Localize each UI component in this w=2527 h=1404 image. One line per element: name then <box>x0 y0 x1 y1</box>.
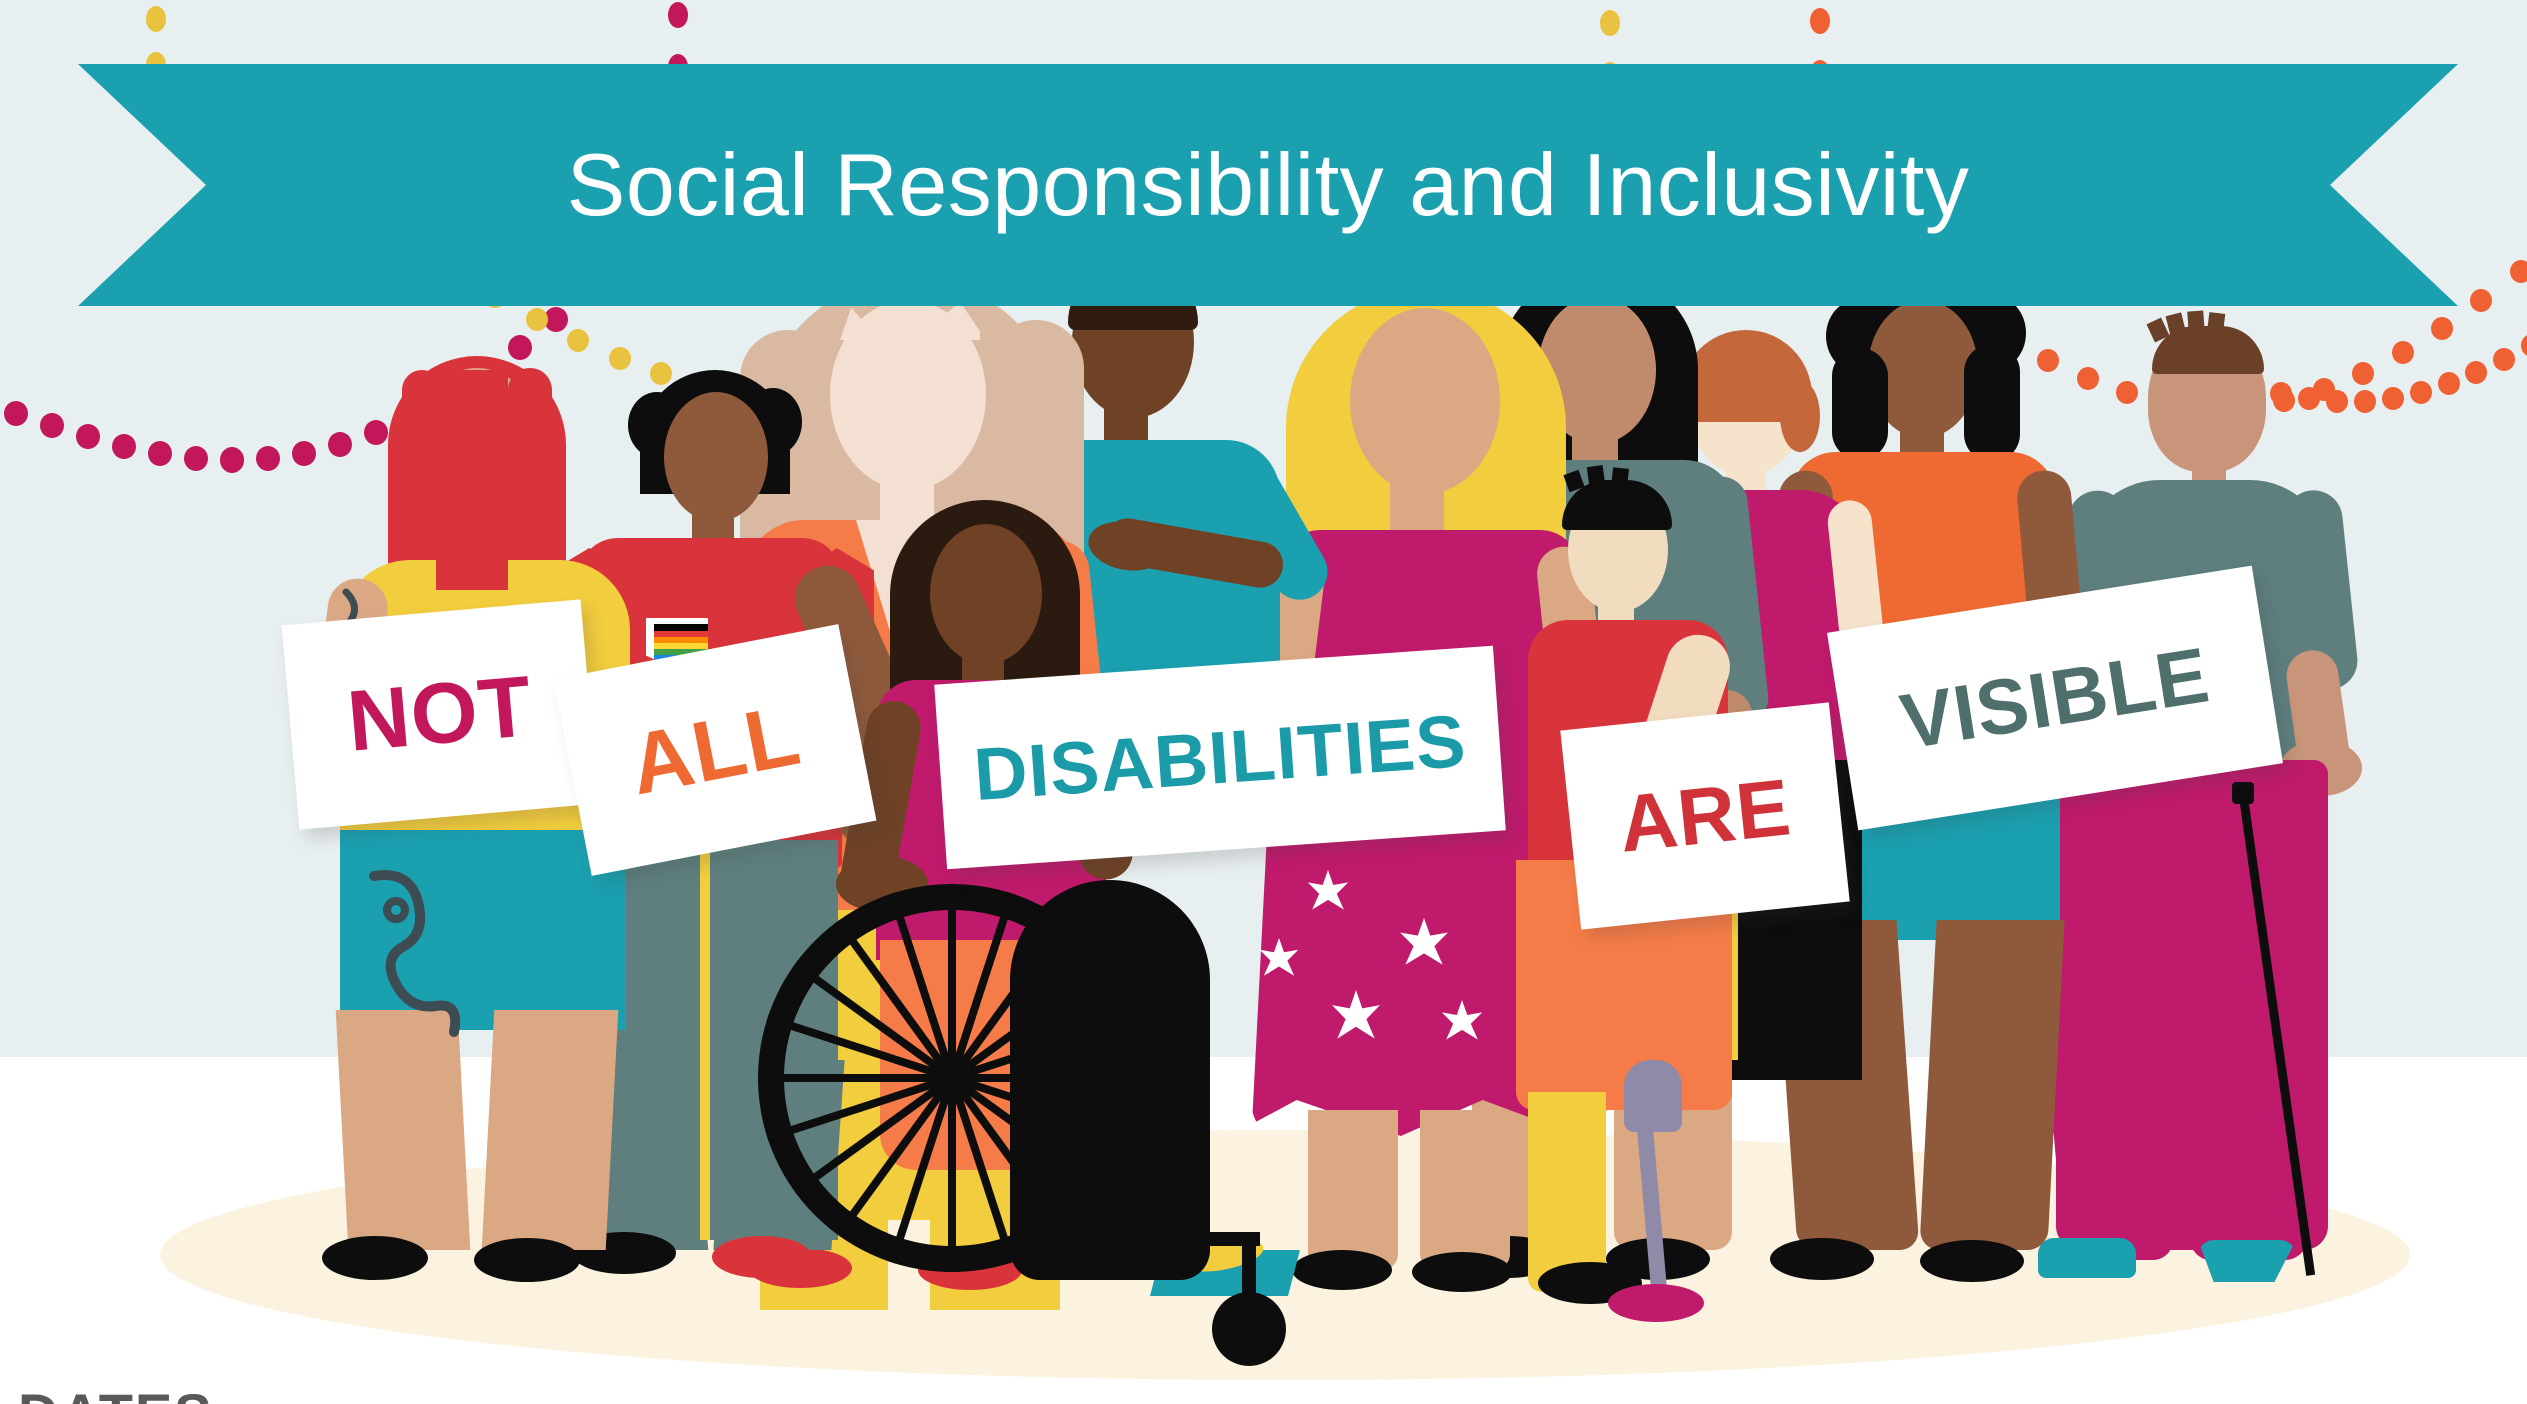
garland-orange-dot <box>2116 381 2138 404</box>
garland-magenta-dot <box>364 420 388 445</box>
garland-orange-dot <box>2431 317 2453 340</box>
garland-magenta-dot <box>4 401 28 426</box>
garland-orange-dot <box>2270 382 2292 405</box>
footer-logo: DATES <box>18 1386 248 1404</box>
sign-visible-text: VISIBLE <box>1895 629 2216 767</box>
sign-are-text: ARE <box>1615 761 1796 870</box>
garland-magenta-dot <box>328 432 352 457</box>
garland-orange-dot <box>2510 260 2527 283</box>
garland-orange-dot <box>2077 367 2099 390</box>
garland-drip-dot <box>1600 10 1620 36</box>
garland-magenta-dot <box>256 446 280 471</box>
sign-not: NOT <box>282 599 599 829</box>
garland-magenta-dot <box>220 447 244 472</box>
sign-disabilities: DISABILITIES <box>934 646 1506 870</box>
garland-yellow-dot <box>567 329 589 352</box>
garland-magenta-dot <box>112 434 136 459</box>
garland-orange-dot <box>2410 381 2432 404</box>
prosthetic-leg <box>1624 1060 1682 1132</box>
garland-magenta-dot <box>184 446 208 471</box>
page-title: Social Responsibility and Inclusivity <box>567 141 1970 229</box>
garland-yellow-dot <box>526 308 548 331</box>
sign-disabilities-text: DISABILITIES <box>971 698 1469 817</box>
garland-yellow-dot <box>609 347 631 370</box>
garland-magenta-dot <box>292 441 316 466</box>
garland-drip-dot <box>1810 8 1830 34</box>
garland-orange-dot <box>2438 372 2460 395</box>
sign-not-text: NOT <box>344 657 536 772</box>
title-banner: Social Responsibility and Inclusivity <box>78 64 2458 306</box>
garland-orange-dot <box>2382 387 2404 410</box>
garland-orange-dot <box>2392 341 2414 364</box>
garland-drip-dot <box>668 2 688 28</box>
garland-orange-dot <box>2354 390 2376 413</box>
garland-drip-dot <box>146 6 166 32</box>
garland-yellow-dot <box>650 362 672 385</box>
garland-orange-dot <box>2352 362 2374 385</box>
sign-are: ARE <box>1560 702 1849 929</box>
sign-all-text: ALL <box>622 685 808 815</box>
slide-root: NOTALLDISABILITIESAREVISIBLE Social Resp… <box>0 0 2527 1404</box>
footer-logo-text: DATES <box>18 1386 214 1404</box>
